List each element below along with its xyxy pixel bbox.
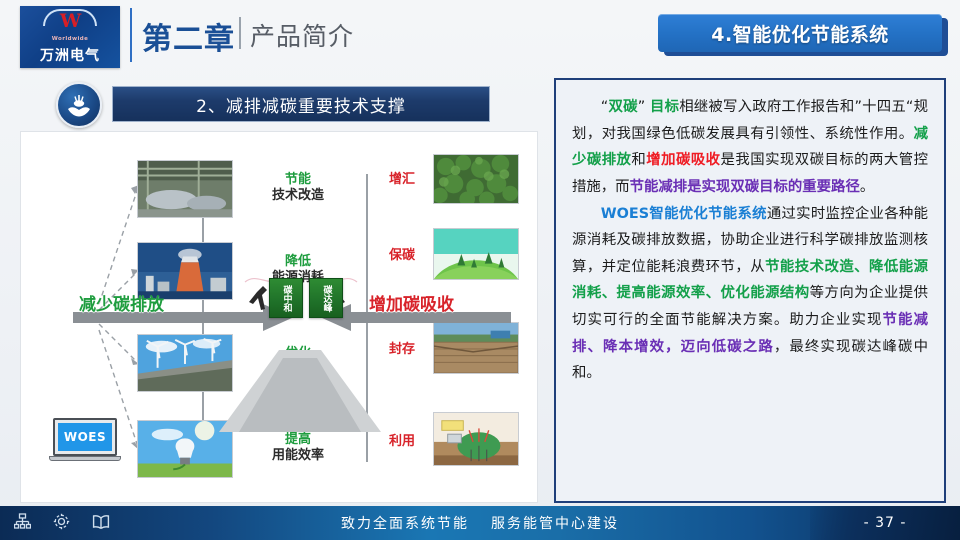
- text-run: 增加碳吸收: [646, 152, 720, 168]
- arrow-label-reduce: 减少碳排放: [79, 290, 164, 315]
- arrow-label-absorb: 增加碳吸收: [369, 290, 454, 315]
- text-run: 节能减排是实现双碳目标的重要路径: [630, 179, 860, 195]
- text-run: WOES智能优化节能系统: [601, 206, 767, 222]
- header-divider-bar: [130, 8, 132, 62]
- description-panel: “双碳” 目标相继被写入政府工作报告和”十四五“规划，对我国绿色低碳发展具有引领…: [554, 78, 946, 503]
- text-run: 和: [631, 152, 646, 168]
- logo-emblem-icon: W: [43, 9, 97, 35]
- paragraph-two: WOES智能优化节能系统通过实时监控企业各种能源消耗及碳排放数据，协助企业进行科…: [572, 201, 928, 387]
- chapter-title: 第二章: [142, 14, 235, 58]
- logo-w-mark: W: [43, 11, 97, 31]
- text-run: 目标: [650, 99, 679, 115]
- section-badge: 4.智能优化节能系统: [658, 14, 948, 56]
- paragraph-one: “双碳” 目标相继被写入政府工作报告和”十四五“规划，对我国绿色低碳发展具有引领…: [572, 94, 928, 201]
- logo-worldwide-text: Worldwide: [52, 36, 88, 42]
- logo-company-name: 万洲电气: [40, 45, 100, 65]
- badge-label: 4.智能优化节能系统: [711, 20, 888, 47]
- section-title-bar: 2、减排减碳重要技术支撑: [112, 86, 490, 122]
- laptop-base: [49, 456, 121, 461]
- woes-label: WOES: [64, 430, 106, 444]
- company-logo: W Worldwide 万洲电气: [20, 6, 120, 68]
- text-run: 双碳: [608, 99, 637, 115]
- hand-leaf-icon: [56, 82, 102, 128]
- footer-slogan-right: 服务能管中心建设: [491, 513, 619, 533]
- footer-bar: 致力全面系统节能 服务能管中心建设 - 37 -: [0, 506, 960, 540]
- woes-source-node: WOES: [49, 418, 121, 466]
- laptop-screen: WOES: [53, 418, 117, 456]
- diagram-panel: 节能 技术改造 降低 能源消耗: [20, 131, 538, 503]
- page-subtitle: 产品简介: [250, 17, 354, 53]
- footer-slogan-left: 致力全面系统节能: [341, 513, 469, 533]
- text-run: 。: [860, 179, 874, 195]
- section-title-text: 2、减排减碳重要技术支撑: [196, 92, 406, 117]
- badge-body: 4.智能优化节能系统: [658, 14, 942, 52]
- slide: W Worldwide 万洲电气 第二章 产品简介 4.智能优化节能系统 2、减…: [0, 0, 960, 540]
- page-number: - 37 -: [810, 506, 960, 540]
- header-separator: [239, 17, 241, 49]
- carbon-block: 碳达峰: [309, 278, 343, 318]
- carbon-block: 碳中和: [269, 278, 303, 318]
